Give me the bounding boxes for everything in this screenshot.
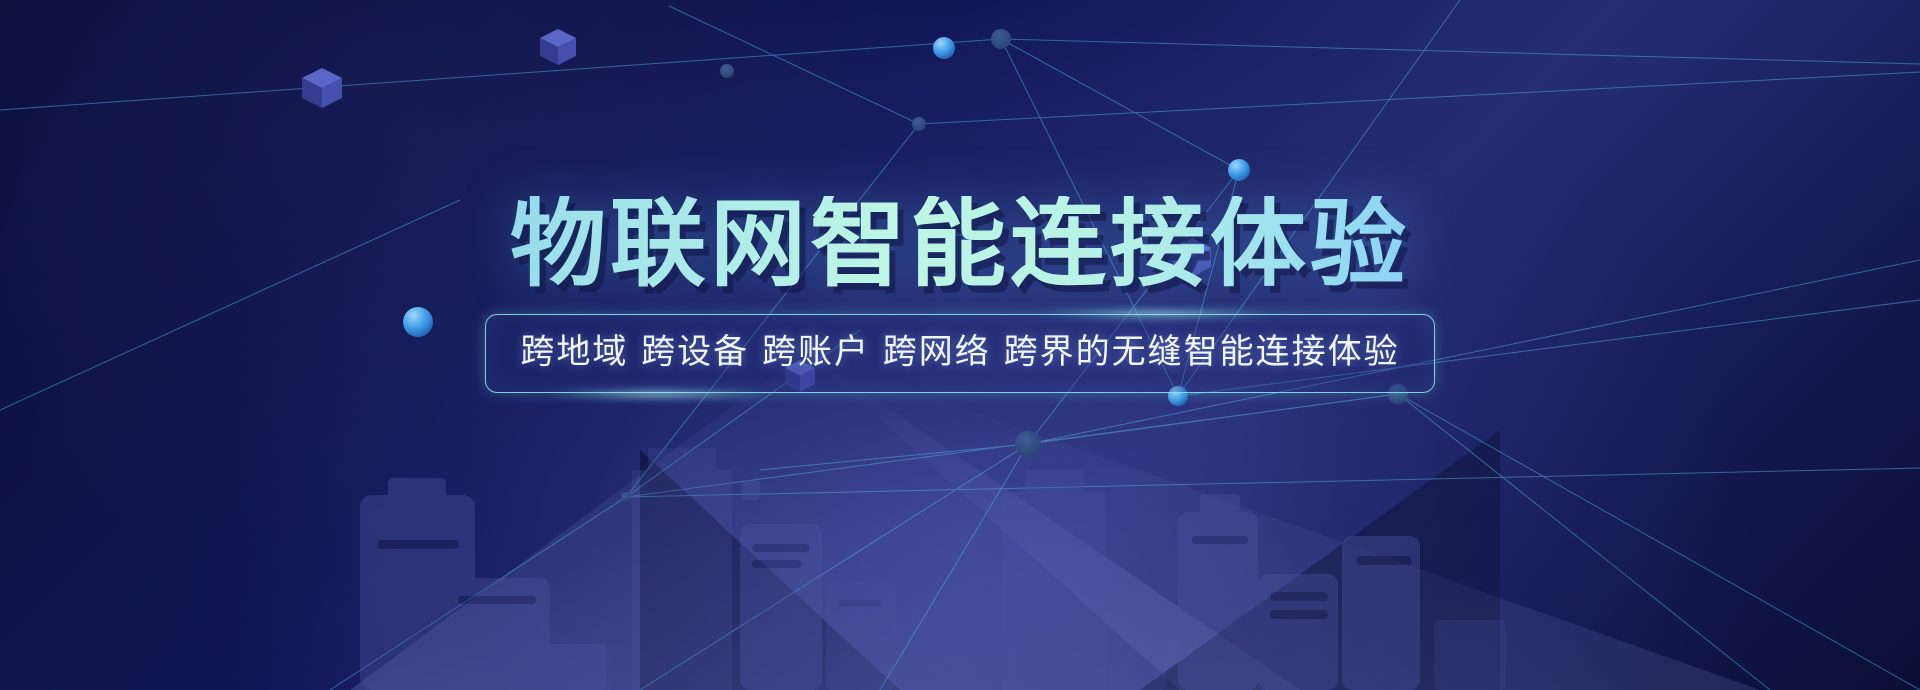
building-5 xyxy=(632,448,732,690)
building-14 xyxy=(552,648,612,690)
building-1 xyxy=(360,478,475,690)
center-light-cone xyxy=(350,352,1300,690)
building-2 xyxy=(444,578,550,690)
network-line-17 xyxy=(1398,394,1770,690)
network-line-10 xyxy=(880,444,1028,690)
building-11 xyxy=(1342,536,1420,690)
hero-banner: 物联网智能连接体验 跨地域 跨设备 跨账户 跨网络 跨界的无缝智能连接体验 xyxy=(0,0,1920,690)
network-line-13 xyxy=(626,394,1398,497)
node-dot-8 xyxy=(1015,431,1041,457)
building-4 xyxy=(740,480,822,690)
panel-glow-top xyxy=(1036,310,1276,318)
building-9 xyxy=(1178,494,1258,690)
network-line-15 xyxy=(626,468,1920,497)
building-8 xyxy=(1002,470,1106,690)
side-light-cone xyxy=(806,352,1760,690)
network-line-14 xyxy=(330,497,626,690)
subtitle-text: 跨地域 跨设备 跨账户 跨网络 跨界的无缝智能连接体验 xyxy=(520,331,1399,374)
dark-wedge-left xyxy=(640,450,900,690)
building-13 xyxy=(1096,608,1166,690)
network-line-12 xyxy=(760,444,1028,470)
page-title: 物联网智能连接体验 xyxy=(0,196,1920,292)
building-7 xyxy=(826,582,896,690)
node-dot-10 xyxy=(621,492,631,502)
network-line-9 xyxy=(1028,394,1920,690)
panel-glow-bottom xyxy=(543,390,773,398)
hero-content: 物联网智能连接体验 跨地域 跨设备 跨账户 跨网络 跨界的无缝智能连接体验 xyxy=(0,0,1920,393)
building-3 xyxy=(496,644,606,690)
subtitle-panel: 跨地域 跨设备 跨账户 跨网络 跨界的无缝智能连接体验 xyxy=(485,314,1434,393)
network-line-11 xyxy=(640,444,1028,690)
building-12 xyxy=(1434,620,1506,690)
building-10 xyxy=(1258,574,1338,690)
dark-wedge-right xyxy=(1140,430,1500,690)
